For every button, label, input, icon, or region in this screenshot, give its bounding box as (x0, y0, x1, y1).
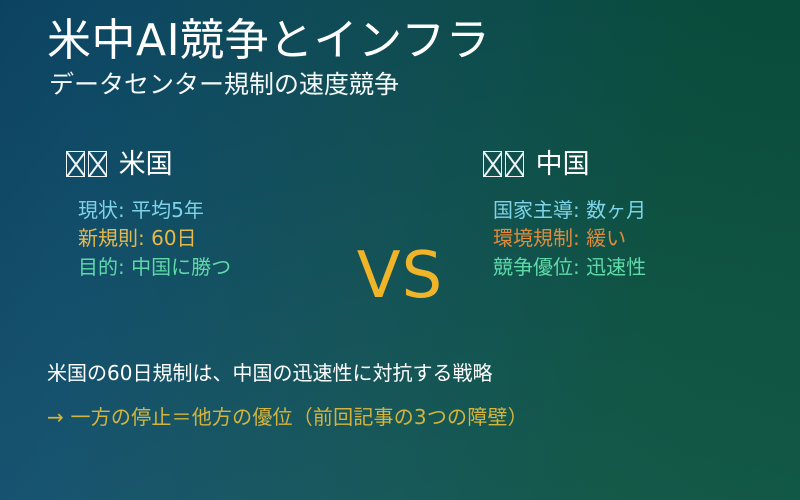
flag-us-icon (66, 148, 110, 182)
page-title: 米中AI競争とインフラ (47, 18, 767, 65)
slide-notes: 米国の60日規制は、中国の迅速性に対抗する戦略 → 一方の停止＝他方の優位（前回… (47, 360, 767, 430)
slide-canvas: 米中AI競争とインフラ データセンター規制の速度競争 米国 現状: 平均5年 新… (0, 0, 800, 500)
country-heading-us: 米国 (20, 148, 350, 182)
note-conclusion: → 一方の停止＝他方の優位（前回記事の3つの障壁） (47, 404, 767, 430)
note-strategy: 米国の60日規制は、中国の迅速性に対抗する戦略 (47, 360, 767, 386)
page-subtitle: データセンター規制の速度競争 (49, 71, 767, 99)
stat-us-current: 現状: 平均5年 (20, 196, 350, 225)
country-name-cn: 中国 (536, 149, 590, 180)
stat-cn-state-led: 国家主導: 数ヶ月 (445, 196, 775, 225)
versus-label: VS (0, 244, 800, 308)
slide-header: 米中AI競争とインフラ データセンター規制の速度競争 (47, 18, 767, 98)
country-heading-cn: 中国 (445, 148, 775, 182)
flag-cn-icon (483, 148, 527, 182)
country-name-us: 米国 (119, 149, 173, 180)
